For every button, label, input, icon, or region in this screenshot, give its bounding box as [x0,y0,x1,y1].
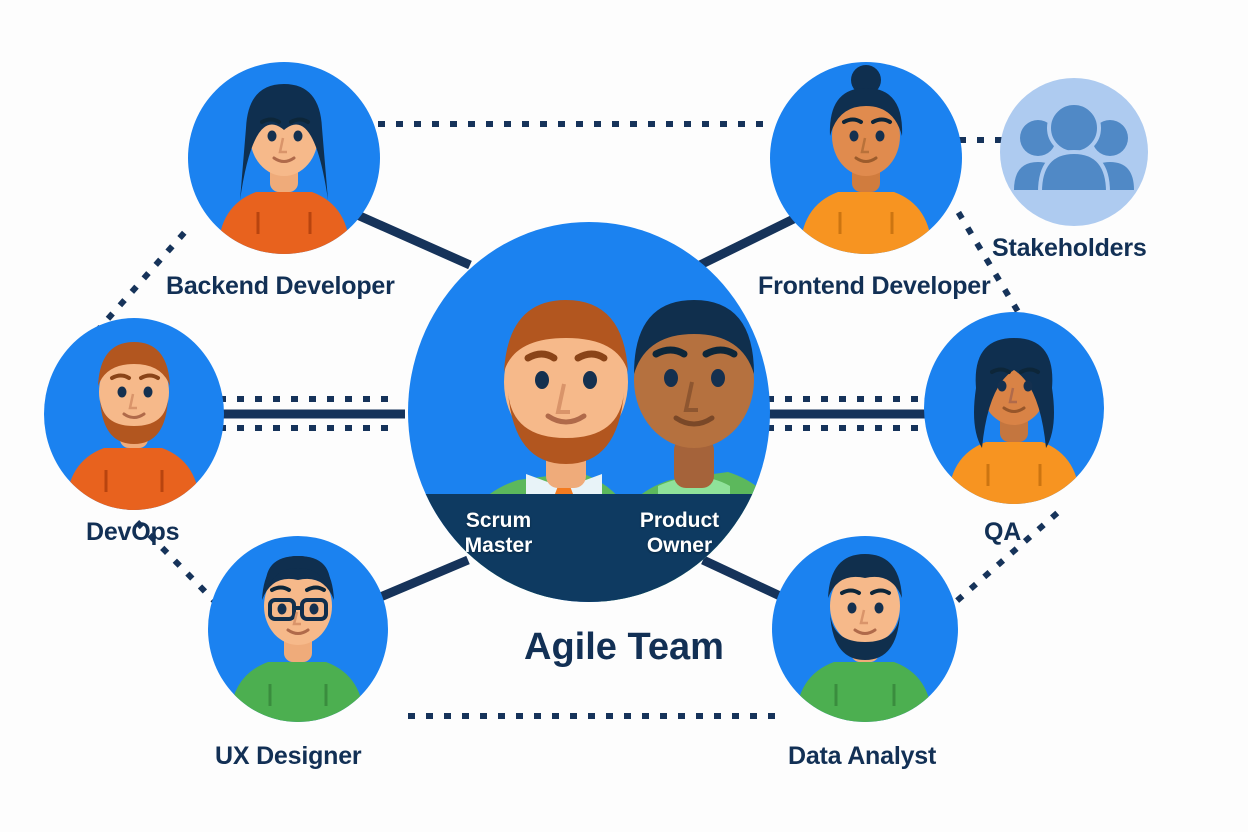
hub-role-scrum-master: Scrum Master [408,508,589,558]
avatar-frontend-developer[interactable] [770,62,962,254]
label-devops: DevOps [86,518,179,547]
diagram-canvas: Scrum Master Product Owner Agile Team [0,0,1248,832]
label-ux-designer: UX Designer [215,742,361,771]
label-frontend-developer: Frontend Developer [758,272,991,301]
avatar-ux-designer[interactable] [208,536,388,722]
label-backend-developer: Backend Developer [166,272,395,301]
avatar-qa[interactable] [924,312,1104,504]
avatar-devops[interactable] [44,318,224,510]
label-data-analyst: Data Analyst [788,742,936,771]
hub-role-band: Scrum Master Product Owner [408,494,770,602]
stakeholders-circle[interactable] [1000,78,1148,226]
avatar-data-analyst[interactable] [772,536,958,722]
label-qa: QA [984,518,1021,547]
avatar-backend-developer[interactable] [188,62,380,254]
hub-agile-team[interactable]: Scrum Master Product Owner [408,222,770,602]
label-stakeholders: Stakeholders [992,234,1147,263]
group-people-icon [1000,78,1148,226]
page-title: Agile Team [0,626,1248,669]
hub-role-product-owner: Product Owner [589,508,770,558]
